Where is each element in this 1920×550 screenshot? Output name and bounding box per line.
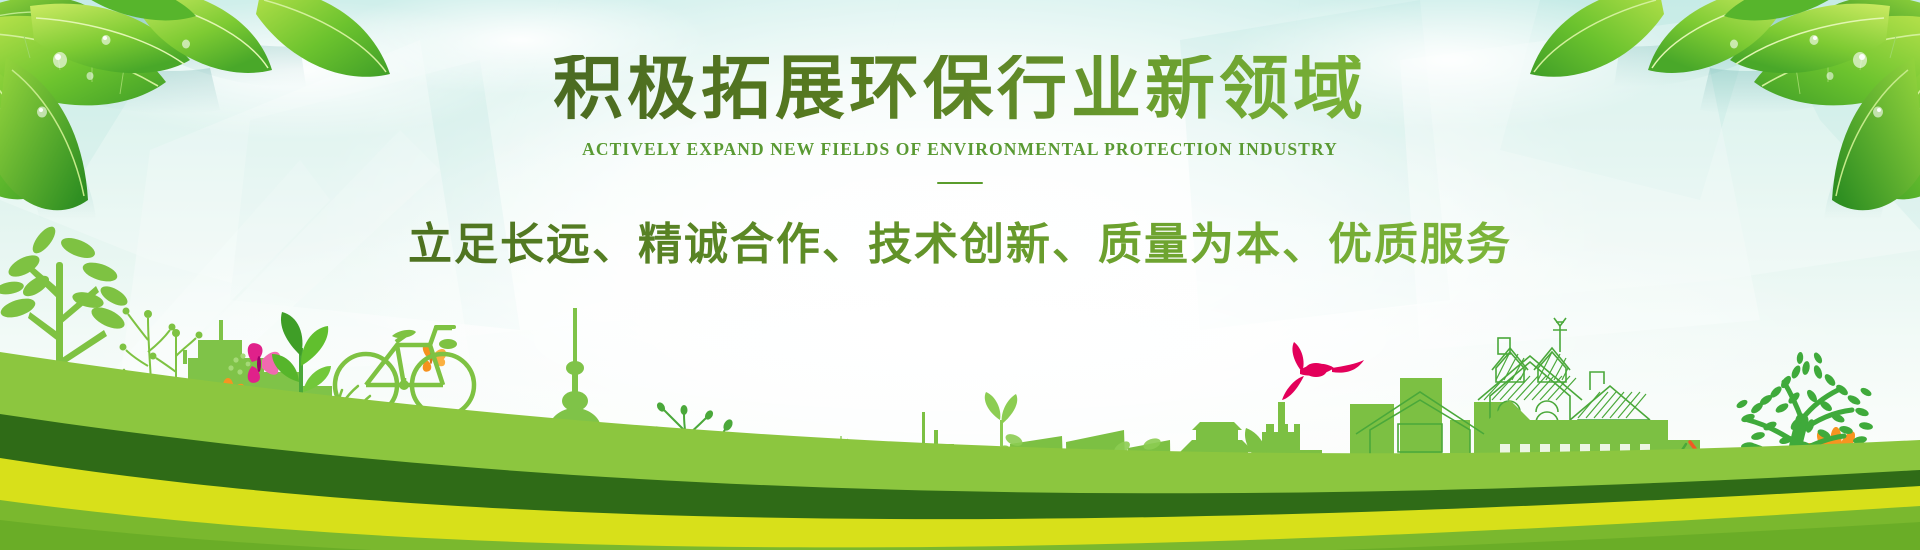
hummingbird-icon <box>1282 342 1364 400</box>
top-left-leaf-cluster <box>0 0 420 220</box>
top-right-leaf-cluster <box>1500 0 1920 220</box>
left-stem-buds <box>120 308 203 360</box>
eco-banner: 积极拓展环保行业新领域 ACTIVELY EXPAND NEW FIELDS O… <box>0 0 1920 550</box>
